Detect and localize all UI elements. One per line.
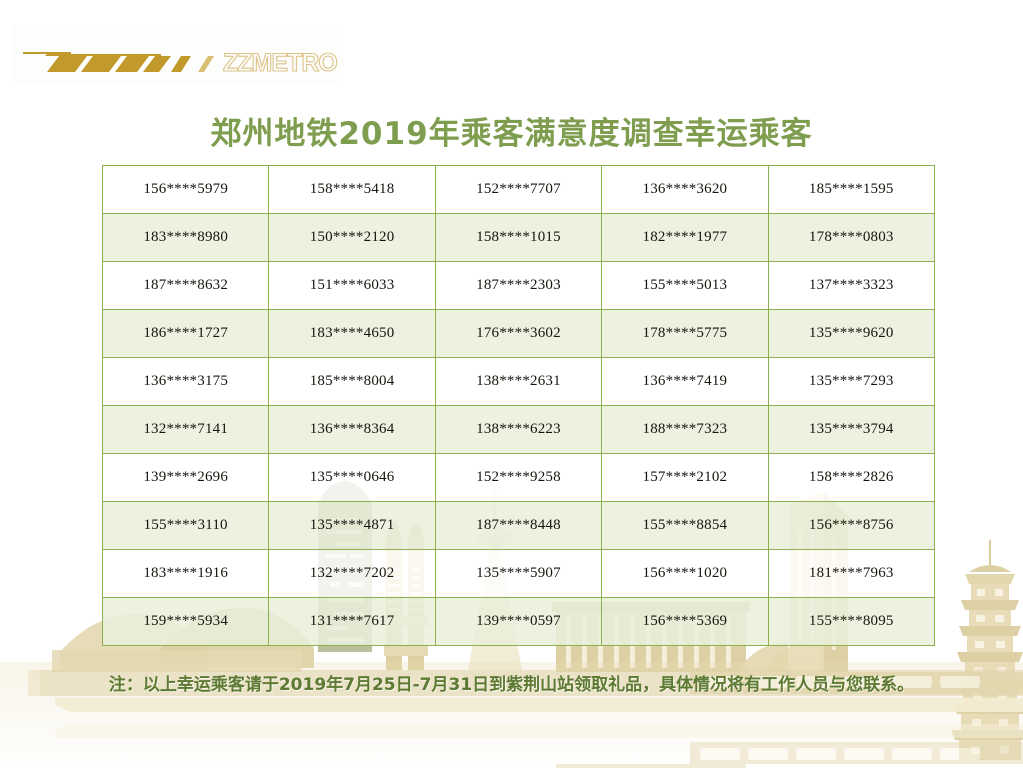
speed-bars-icon	[23, 52, 191, 72]
phone-number-cell: 150****2120	[269, 214, 435, 262]
table-row: 136****3175185****8004138****2631136****…	[103, 358, 935, 406]
phone-number-cell: 151****6033	[269, 262, 435, 310]
phone-number-cell: 155****5013	[602, 262, 768, 310]
phone-number-cell: 183****1916	[103, 550, 269, 598]
phone-number-cell: 152****7707	[435, 166, 601, 214]
phone-number-cell: 187****8632	[103, 262, 269, 310]
phone-number-cell: 181****7963	[768, 550, 934, 598]
phone-number-cell: 135****5907	[435, 550, 601, 598]
phone-number-cell: 136****3175	[103, 358, 269, 406]
phone-number-cell: 132****7141	[103, 406, 269, 454]
zzmetro-logo[interactable]: ZZMETRO	[11, 25, 343, 83]
page-title: 郑州地铁2019年乘客满意度调查幸运乘客	[0, 108, 1023, 153]
phone-number-cell: 135****4871	[269, 502, 435, 550]
phone-number-cell: 152****9258	[435, 454, 601, 502]
slide-canvas: ZZMETRO 郑州地铁2019年乘客满意度调查幸运乘客 156****5979…	[0, 0, 1023, 768]
pagoda-icon	[951, 540, 1023, 760]
phone-number-cell: 139****0597	[435, 598, 601, 646]
phone-number-cell: 158****1015	[435, 214, 601, 262]
phone-number-cell: 138****2631	[435, 358, 601, 406]
phone-number-cell: 158****5418	[269, 166, 435, 214]
phone-number-cell: 156****5369	[602, 598, 768, 646]
phone-number-cell: 131****7617	[269, 598, 435, 646]
table-row: 183****8980150****2120158****1015182****…	[103, 214, 935, 262]
logo-slash-icon	[198, 56, 214, 72]
table-body: 156****5979158****5418152****7707136****…	[103, 166, 935, 646]
phone-number-cell: 186****1727	[103, 310, 269, 358]
phone-number-cell: 138****6223	[435, 406, 601, 454]
phone-number-cell: 176****3602	[435, 310, 601, 358]
phone-number-cell: 156****5979	[103, 166, 269, 214]
phone-number-cell: 158****2826	[768, 454, 934, 502]
phone-number-cell: 178****0803	[768, 214, 934, 262]
phone-number-cell: 156****1020	[602, 550, 768, 598]
phone-number-cell: 185****8004	[269, 358, 435, 406]
phone-number-cell: 187****2303	[435, 262, 601, 310]
phone-number-cell: 155****3110	[103, 502, 269, 550]
phone-number-cell: 155****8095	[768, 598, 934, 646]
table-row: 132****7141136****8364138****6223188****…	[103, 406, 935, 454]
table-row: 139****2696135****0646152****9258157****…	[103, 454, 935, 502]
footer-note: 注：以上幸运乘客请于2019年7月25日-7月31日到紫荆山站领取礼品，具体情况…	[0, 670, 1023, 695]
phone-number-cell: 156****8756	[768, 502, 934, 550]
phone-number-cell: 135****9620	[768, 310, 934, 358]
phone-number-cell: 137****3323	[768, 262, 934, 310]
phone-number-cell: 139****2696	[103, 454, 269, 502]
phone-number-cell: 188****7323	[602, 406, 768, 454]
phone-number-cell: 187****8448	[435, 502, 601, 550]
phone-number-cell: 183****8980	[103, 214, 269, 262]
logo-wordmark: ZZMETRO	[223, 49, 337, 77]
table-row: 159****5934131****7617139****0597156****…	[103, 598, 935, 646]
phone-number-cell: 135****0646	[269, 454, 435, 502]
table-row: 186****1727183****4650176****3602178****…	[103, 310, 935, 358]
lucky-passengers-table: 156****5979158****5418152****7707136****…	[102, 165, 935, 646]
phone-number-cell: 178****5775	[602, 310, 768, 358]
phone-number-cell: 132****7202	[269, 550, 435, 598]
phone-number-cell: 159****5934	[103, 598, 269, 646]
table-row: 187****8632151****6033187****2303155****…	[103, 262, 935, 310]
table-row: 183****1916132****7202135****5907156****…	[103, 550, 935, 598]
table-row: 155****3110135****4871187****8448155****…	[103, 502, 935, 550]
phone-number-cell: 135****7293	[768, 358, 934, 406]
phone-number-cell: 155****8854	[602, 502, 768, 550]
phone-number-cell: 183****4650	[269, 310, 435, 358]
phone-number-cell: 182****1977	[602, 214, 768, 262]
phone-number-cell: 136****3620	[602, 166, 768, 214]
phone-number-cell: 136****8364	[269, 406, 435, 454]
table-row: 156****5979158****5418152****7707136****…	[103, 166, 935, 214]
phone-number-cell: 135****3794	[768, 406, 934, 454]
phone-number-cell: 157****2102	[602, 454, 768, 502]
phone-number-cell: 136****7419	[602, 358, 768, 406]
phone-number-cell: 185****1595	[768, 166, 934, 214]
